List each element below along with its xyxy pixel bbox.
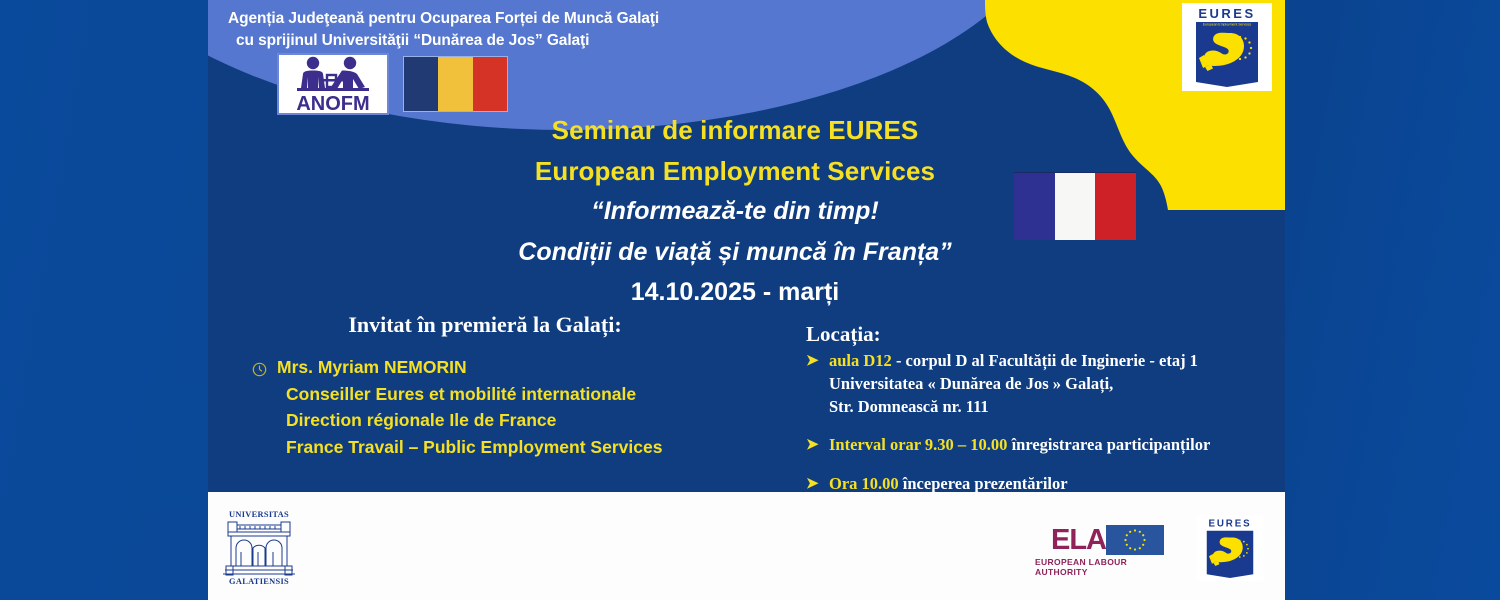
- event-date: 14.10.2025 - marți: [300, 278, 1170, 307]
- venue-hall: aula D12: [829, 351, 892, 370]
- start-time: Ora 10.00: [829, 474, 899, 493]
- flag-stripe-white: [1055, 173, 1096, 240]
- venue-street: Str. Domnească nr. 111: [829, 397, 989, 416]
- ela-logo-text: ELA: [1051, 525, 1106, 555]
- poster-canvas: Agenția Judeţeană pentru Ocuparea Forței…: [0, 0, 1500, 600]
- flag-stripe-blue: [1014, 173, 1055, 240]
- flag-stripe-red: [1095, 173, 1136, 240]
- romanian-flag: [403, 56, 508, 112]
- invited-details: Mrs. Myriam NEMORIN Conseiller Eures et …: [252, 354, 752, 460]
- eures-logo-text: EURES: [1198, 6, 1255, 21]
- registration-time: Interval orar 9.30 – 10.00: [829, 435, 1007, 454]
- guest-role-2: Direction régionale Ile de France: [252, 407, 752, 434]
- university-logo: UNIVERSITAS GALATIENSIS: [223, 508, 295, 586]
- eures-logo: EURES European Employment Services: [1182, 3, 1272, 91]
- location-item: ➤ Ora 10.00 începerea prezentărilor: [806, 473, 1276, 496]
- ela-logo-subtitle: EUROPEAN LABOUR AUTHORITY: [1035, 557, 1180, 577]
- university-logo-bottom-text: GALATIENSIS: [229, 577, 289, 586]
- location-item: ➤ aula D12 - corpul D al Facultății de I…: [806, 350, 1276, 418]
- anofm-logo: ANOFM: [277, 53, 389, 115]
- organizer-header: Agenția Judeţeană pentru Ocuparea Forței…: [228, 8, 988, 53]
- location-item: ➤ Interval orar 9.30 – 10.00 înregistrar…: [806, 434, 1276, 457]
- venue-detail: - corpul D al Facultății de Inginerie - …: [892, 351, 1198, 370]
- location-block: Locația: ➤ aula D12 - corpul D al Facult…: [806, 322, 1276, 498]
- arrow-right-icon: ➤: [806, 434, 820, 457]
- invited-heading: Invitat în premieră la Galați:: [250, 312, 720, 338]
- arrow-right-icon: ➤: [806, 350, 820, 418]
- location-heading: Locația:: [806, 322, 1276, 347]
- guest-role-3: France Travail – Public Employment Servi…: [252, 434, 752, 461]
- flag-stripe-blue: [404, 57, 438, 111]
- french-flag: [1014, 172, 1136, 240]
- venue-university: Universitatea « Dunărea de Jos » Galați,: [829, 374, 1113, 393]
- start-label: începerea prezentărilor: [899, 474, 1068, 493]
- eures-logo-text: EURES: [1209, 518, 1252, 529]
- guest-role-1: Conseiller Eures et mobilité internation…: [252, 381, 752, 408]
- eures-logo: EURES: [1196, 515, 1264, 581]
- anofm-logo-text: ANOFM: [296, 93, 369, 113]
- clock-icon: [252, 358, 267, 373]
- arrow-right-icon: ➤: [806, 473, 820, 496]
- ela-logo: ELA EUROPEAN LABOUR AUTHORITY: [1035, 525, 1180, 573]
- title-line-1: Seminar de informare EURES: [300, 110, 1170, 151]
- guest-name: Mrs. Myriam NEMORIN: [277, 354, 467, 381]
- registration-label: înregistrarea participanților: [1007, 435, 1210, 454]
- eu-flag-icon: [1106, 525, 1164, 555]
- organizer-line-1: Agenția Judeţeană pentru Ocuparea Forței…: [228, 8, 988, 30]
- organizer-line-2: cu sprijinul Universităţii “Dunărea de J…: [228, 30, 988, 52]
- flag-stripe-yellow: [438, 57, 472, 111]
- university-logo-top-text: UNIVERSITAS: [229, 510, 289, 519]
- flag-stripe-red: [473, 57, 507, 111]
